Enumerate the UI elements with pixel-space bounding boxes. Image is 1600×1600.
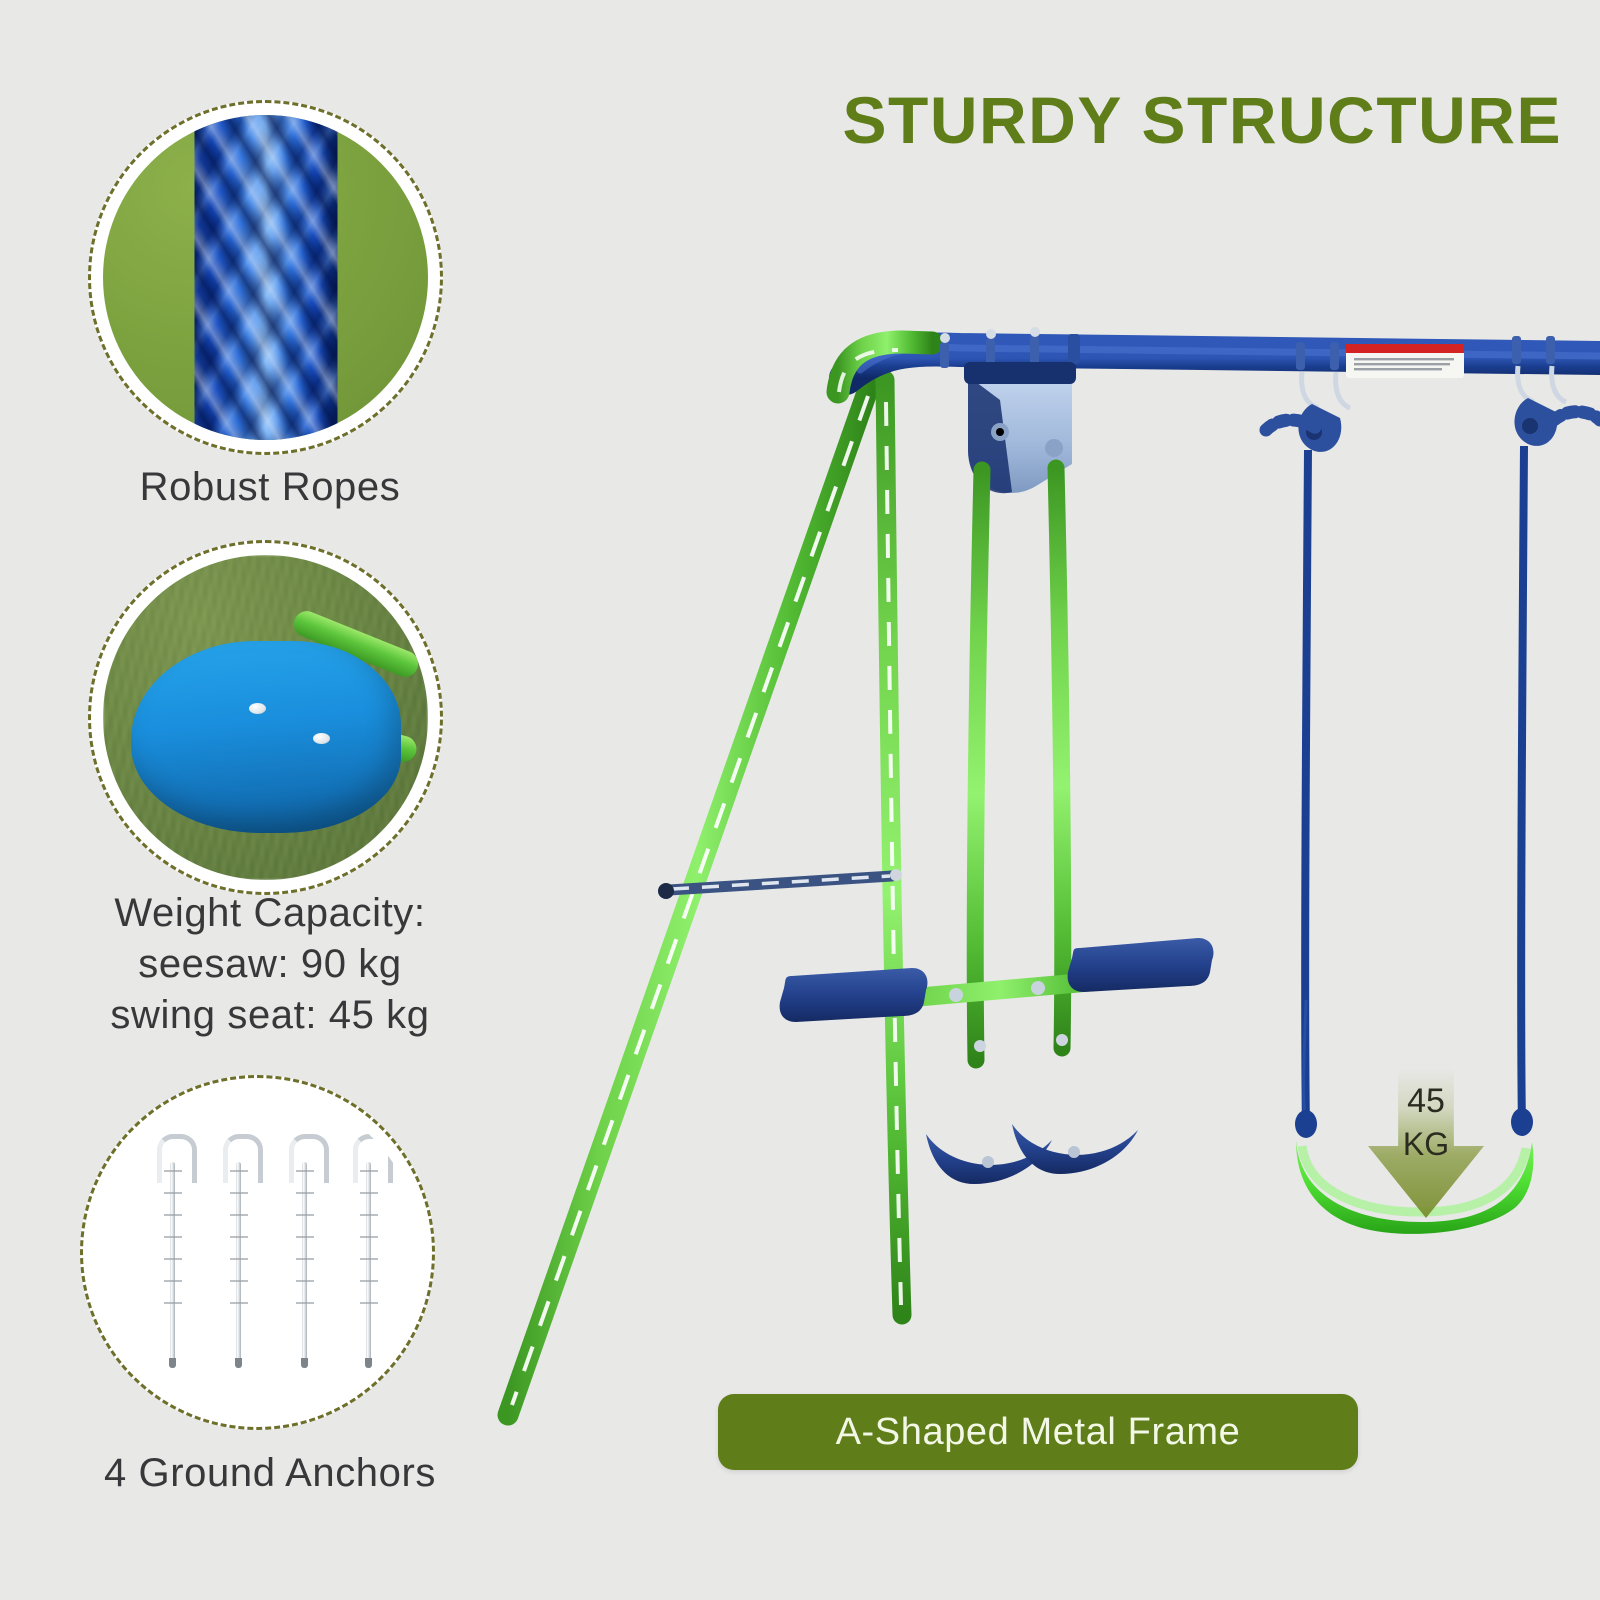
blue-seat-body (131, 641, 401, 833)
ground-anchor-icon (157, 1134, 191, 1364)
product-illustration (440, 300, 1600, 1450)
infographic-canvas: STURDY STRUCTURE Robust Ropes Weight Cap… (0, 0, 1600, 1600)
page-title: STURDY STRUCTURE (843, 82, 1562, 158)
kg-unit: KG (1368, 1128, 1484, 1160)
a-frame-left-leg (508, 378, 872, 1415)
ground-anchor-icon (223, 1134, 257, 1364)
seat-rivet (313, 733, 330, 744)
glider-hanger-tubes (975, 468, 1063, 1060)
feature-caption-ground-anchors: 4 Ground Anchors (0, 1448, 540, 1499)
blue-rope-strand (194, 115, 337, 440)
status-badge-frame-type: A-Shaped Metal Frame (718, 1394, 1358, 1470)
rope-photo (103, 115, 428, 440)
top-rail (846, 347, 1600, 378)
a-frame-left-leg-rear (885, 380, 902, 1315)
feature-photo-seesaw-seat (88, 540, 443, 895)
ground-anchors-photo (95, 1090, 420, 1415)
kg-value: 45 (1368, 1084, 1484, 1118)
glider-seesaw (780, 938, 1214, 1184)
rope-braid-texture (194, 115, 337, 440)
warning-label (1346, 344, 1464, 378)
seesaw-seat-photo (103, 555, 428, 880)
ground-anchor-icon (353, 1134, 387, 1364)
seat-rivet (249, 703, 266, 714)
weight-indicator-arrow: 45 KG (1368, 1068, 1484, 1218)
feature-photo-ground-anchors (80, 1075, 435, 1430)
swing-rope-right (1521, 446, 1524, 1128)
ground-anchor-icon (289, 1134, 323, 1364)
feature-photo-robust-ropes (88, 100, 443, 455)
